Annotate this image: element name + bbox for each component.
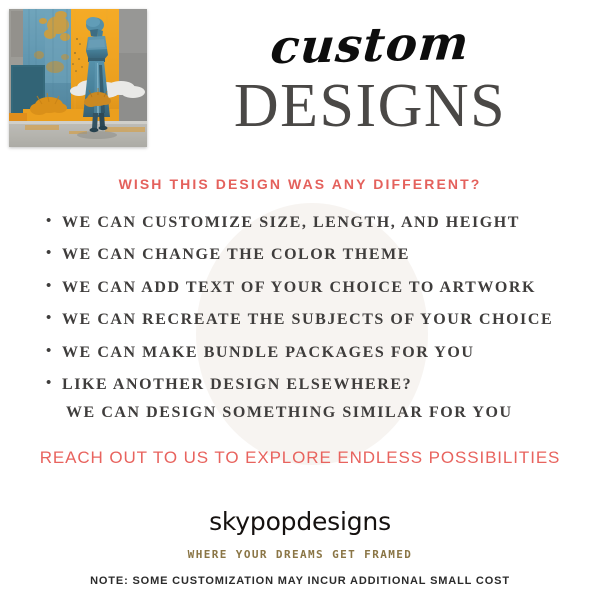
list-item-continuation: WE CAN DESIGN SOMETHING SIMILAR FOR YOU	[44, 404, 584, 422]
list-item: WE CAN ADD TEXT OF YOUR CHOICE TO ARTWOR…	[44, 279, 584, 297]
script-headline: custom	[148, 17, 593, 73]
headline-block: custom DESIGNS	[150, 22, 590, 138]
call-to-action-text: REACH OUT TO US TO EXPLORE ENDLESS POSSI…	[0, 448, 600, 468]
brand-tagline: WHERE YOUR DREAMS GET FRAMED	[0, 548, 600, 561]
list-item: WE CAN CUSTOMIZE SIZE, LENGTH, AND HEIGH…	[44, 214, 584, 232]
footer-note: NOTE: SOME CUSTOMIZATION MAY INCUR ADDIT…	[0, 575, 600, 587]
custom-designs-poster: custom DESIGNS WISH THIS DESIGN WAS ANY …	[0, 0, 600, 600]
brand-name: skypopdesigns	[0, 507, 600, 536]
subtitle: WISH THIS DESIGN WAS ANY DIFFERENT?	[0, 176, 600, 192]
list-item: LIKE ANOTHER DESIGN ELSEWHERE?	[44, 376, 584, 394]
list-item: WE CAN RECREATE THE SUBJECTS OF YOUR CHO…	[44, 311, 584, 329]
list-item: WE CAN MAKE BUNDLE PACKAGES FOR YOU	[44, 344, 584, 362]
benefits-list: WE CAN CUSTOMIZE SIZE, LENGTH, AND HEIGH…	[44, 214, 584, 437]
artwork-thumbnail[interactable]	[9, 9, 147, 147]
list-item: WE CAN CHANGE THE COLOR THEME	[44, 246, 584, 264]
page-title: DESIGNS	[150, 75, 590, 138]
artwork-illustration	[9, 9, 147, 147]
